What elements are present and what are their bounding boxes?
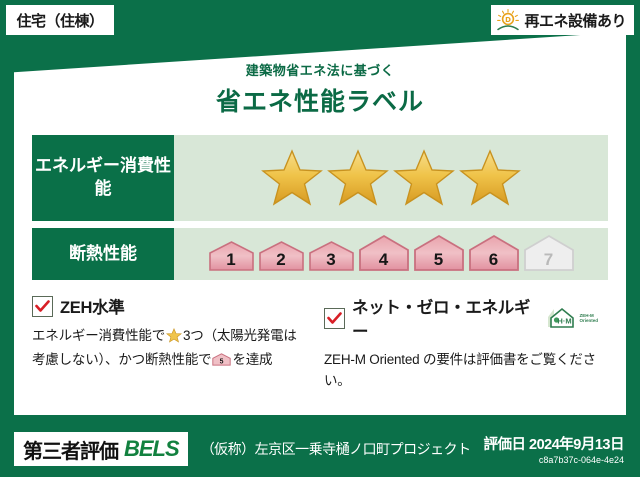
rating-value-insulation: 1 2 3 4 (174, 228, 608, 280)
energy-label-root: 住宅（住棟） D 再エネ設備あり 建築物省エ (0, 0, 640, 477)
note-body: エネルギー消費性能で3つ（太陽光発電は考慮しない）、かつ断熱性能で5を達成 (32, 326, 306, 374)
svg-text:D: D (506, 16, 512, 24)
zeh-m-caption-line2: Oriented (579, 318, 598, 323)
bels-en-label: BELS (124, 436, 179, 462)
zeh-m-oriented-logo: H·M ZEH-M Oriented (545, 306, 598, 330)
house-level-label: 1 (208, 250, 255, 270)
svg-text:H·M: H·M (558, 317, 572, 326)
note-body: ZEH-M Oriented の要件は評価書をご覧ください。 (324, 350, 598, 392)
evaluation-block: 評価日 2024年9月13日 c8a7b37c-064e-4e24 (484, 433, 626, 465)
note-header: ネット・ゼロ・エネルギー H·M ZEH-M Oriented (324, 294, 598, 342)
footer-bar: 第三者評価 BELS （仮称）左京区一乗寺樋ノ口町プロジェクト 評価日 2024… (14, 429, 626, 469)
project-name: （仮称）左京区一乗寺樋ノ口町プロジェクト (188, 439, 484, 459)
house-icon: 5 (413, 234, 465, 272)
label-main-title: 省エネ性能ラベル (14, 82, 626, 118)
evaluation-date: 評価日 2024年9月13日 (484, 433, 624, 454)
label-subtitle: 建築物省エネ法に基づく (14, 60, 626, 79)
house-level-label: 2 (258, 250, 305, 270)
rating-label-energy: エネルギー消費性能 (32, 135, 174, 221)
house-icon: 1 (208, 240, 255, 272)
evaluation-code: c8a7b37c-064e-4e24 (484, 455, 624, 465)
rating-rows: エネルギー消費性能 (32, 135, 608, 287)
house-level-label: 7 (523, 250, 575, 270)
house-icon-inactive: 7 (523, 234, 575, 272)
note-body-part-1: エネルギー消費性能で (32, 328, 165, 343)
house-level-label: 5 (413, 250, 465, 270)
house-type-tag-label: 住宅（住棟） (16, 10, 103, 31)
star-icon (393, 148, 455, 208)
note-body-part-3: を達成 (232, 352, 272, 367)
renewable-energy-tag-label: 再エネ設備あり (524, 10, 626, 31)
sun-renewable-icon: D (495, 8, 521, 32)
star-icon (261, 148, 323, 208)
note-header: ZEH水準 (32, 294, 306, 318)
star-icon (327, 148, 389, 208)
bels-badge: 第三者評価 BELS (14, 432, 188, 466)
note-net-zero-energy: ネット・ゼロ・エネルギー H·M ZEH-M Oriented (316, 294, 608, 392)
house-icon: 2 (258, 240, 305, 272)
svg-text:5: 5 (220, 358, 224, 365)
star-icon-inline (166, 328, 182, 350)
rating-row-energy: エネルギー消費性能 (32, 135, 608, 221)
house-icon-inline: 5 (212, 352, 231, 374)
house-rating: 1 2 3 4 (208, 234, 575, 274)
check-icon (324, 308, 345, 329)
star-icon (459, 148, 521, 208)
star-rating (261, 148, 521, 208)
check-icon (32, 296, 53, 317)
renewable-energy-tag: D 再エネ設備あり (491, 5, 634, 35)
rating-label-insulation: 断熱性能 (32, 228, 174, 280)
label-body: 建築物省エネ法に基づく 省エネ性能ラベル エネルギー消費性能 (14, 32, 626, 415)
house-icon: 4 (358, 234, 410, 272)
house-icon: 3 (308, 240, 355, 272)
note-title: ネット・ゼロ・エネルギー (352, 294, 535, 342)
label-title-block: 建築物省エネ法に基づく 省エネ性能ラベル (14, 60, 626, 118)
note-title: ZEH水準 (60, 294, 125, 318)
rating-value-energy (174, 135, 608, 221)
house-type-tag: 住宅（住棟） (6, 5, 114, 35)
house-icon: 6 (468, 234, 520, 272)
zeh-m-logo-caption: ZEH-M Oriented (579, 313, 598, 323)
rating-row-insulation: 断熱性能 1 2 3 (32, 228, 608, 280)
house-level-label: 6 (468, 250, 520, 270)
house-level-label: 3 (308, 250, 355, 270)
house-level-label: 4 (358, 250, 410, 270)
notes-section: ZEH水準 エネルギー消費性能で3つ（太陽光発電は考慮しない）、かつ断熱性能で5… (32, 294, 608, 392)
note-zeh-standard: ZEH水準 エネルギー消費性能で3つ（太陽光発電は考慮しない）、かつ断熱性能で5… (32, 294, 316, 392)
bels-jp-label: 第三者評価 (23, 435, 118, 464)
